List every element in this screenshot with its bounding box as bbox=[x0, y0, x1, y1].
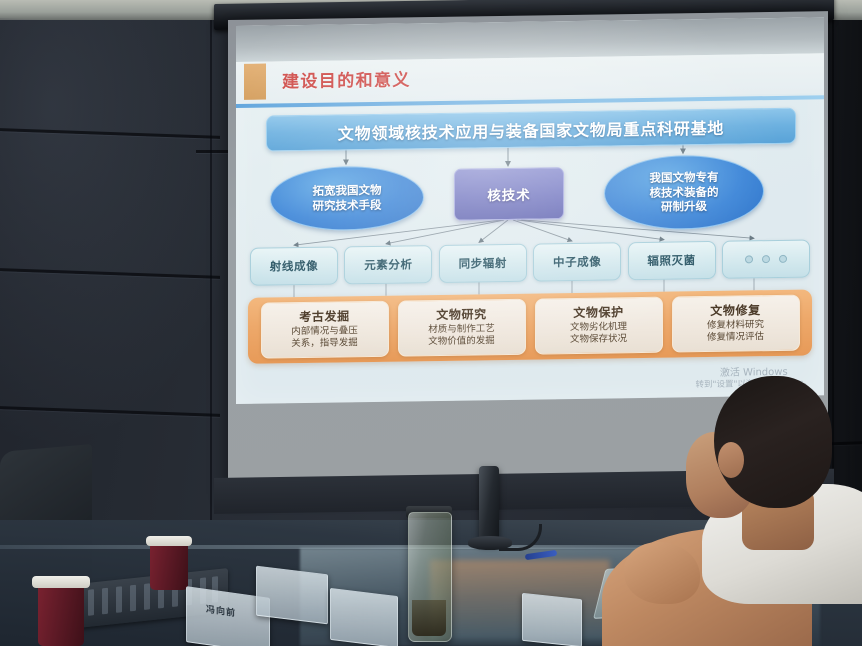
wall-vertical-seam bbox=[210, 20, 212, 520]
tech-box-5: 辐照灭菌 bbox=[628, 241, 716, 280]
technology-row: 射线成像 元素分析 同步辐射 中子成像 辐照灭菌 bbox=[250, 239, 810, 285]
conference-room-photo: 建设目的和意义 bbox=[0, 0, 862, 646]
slide-node-header-label: 文物领域核技术应用与装备国家文物局重点科研基地 bbox=[338, 115, 724, 145]
application-box-2-desc: 材质与制作工艺文物价值的发掘 bbox=[428, 323, 495, 348]
seated-attendee bbox=[662, 346, 862, 646]
tech-box-ellipsis bbox=[722, 239, 810, 278]
slide-node-goal-right-label: 我国文物专有核技术装备的研制升级 bbox=[650, 170, 719, 215]
slide-title: 建设目的和意义 bbox=[282, 65, 411, 92]
coffee-cup-near bbox=[38, 582, 84, 646]
tech-box-3-label: 同步辐射 bbox=[459, 255, 507, 272]
nameplate-2 bbox=[256, 566, 328, 625]
coffee-cup-near-lid bbox=[32, 576, 90, 588]
conference-microphone bbox=[479, 466, 499, 544]
coffee-cup-far bbox=[150, 540, 188, 590]
nameplate-4 bbox=[522, 593, 582, 646]
application-box-3-title: 文物保护 bbox=[573, 306, 623, 321]
tech-box-5-label: 辐照灭菌 bbox=[647, 252, 695, 269]
application-box-1-title: 考古发掘 bbox=[299, 310, 349, 325]
application-box-2: 文物研究 材质与制作工艺文物价值的发掘 bbox=[398, 299, 526, 357]
tech-box-1: 射线成像 bbox=[250, 246, 338, 285]
slide-node-core-label: 核技术 bbox=[487, 184, 531, 205]
table-reflection-warm bbox=[430, 560, 610, 640]
application-box-3-desc: 文物劣化机理文物保存状况 bbox=[570, 321, 627, 346]
tech-box-3: 同步辐射 bbox=[439, 244, 527, 283]
coffee-cup-far-lid bbox=[146, 536, 192, 546]
application-box-4: 文物修复 修复材料研究修复情况评估 bbox=[672, 295, 800, 353]
slide-node-core-technology: 核技术 bbox=[454, 167, 564, 221]
slide-node-goal-left-label: 拓宽我国文物研究技术手段 bbox=[313, 183, 382, 213]
application-box-2-title: 文物研究 bbox=[436, 308, 486, 323]
tech-box-4: 中子成像 bbox=[533, 242, 621, 281]
application-box-4-title: 文物修复 bbox=[710, 304, 760, 319]
application-box-4-desc: 修复材料研究修复情况评估 bbox=[707, 319, 764, 344]
slide-node-goal-left: 拓宽我国文物研究技术手段 bbox=[270, 165, 424, 231]
tech-box-2: 元素分析 bbox=[344, 245, 432, 284]
ellipsis-dots-icon bbox=[745, 255, 787, 264]
attendee-ear bbox=[718, 442, 744, 478]
nameplate-3 bbox=[330, 588, 398, 646]
slide-node-goal-right: 我国文物专有核技术装备的研制升级 bbox=[604, 154, 764, 230]
title-accent-bar bbox=[244, 64, 266, 100]
tea-leaves bbox=[412, 600, 446, 636]
slide-node-header: 文物领域核技术应用与装备国家文物局重点科研基地 bbox=[266, 108, 796, 152]
application-box-1-desc: 内部情况与叠压关系，指导发掘 bbox=[291, 325, 358, 350]
application-box-1: 考古发掘 内部情况与叠压关系，指导发掘 bbox=[261, 301, 389, 359]
microphone-base bbox=[468, 536, 512, 550]
tech-box-4-label: 中子成像 bbox=[553, 254, 601, 271]
tech-box-2-label: 元素分析 bbox=[364, 256, 412, 273]
tech-box-1-label: 射线成像 bbox=[270, 258, 318, 275]
application-box-3: 文物保护 文物劣化机理文物保存状况 bbox=[535, 297, 663, 355]
